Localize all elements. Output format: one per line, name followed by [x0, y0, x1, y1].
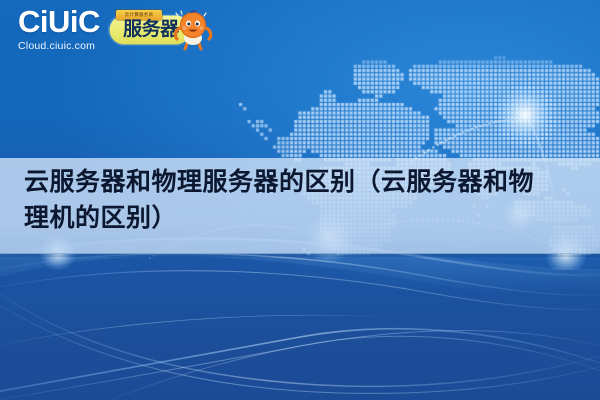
server-badge: 云计算服务商 服务器 — [108, 8, 216, 52]
page-title-line1: 云服务器和物理服务器的区别（云服务器和物 — [24, 168, 534, 196]
brand-lockup[interactable]: CiUiC Cloud.ciuic.com 云计算服务商 服务器 — [18, 6, 216, 52]
cover-image: 云服务器和物理服务器的区别（云服务器和物理机的区别） CiUiC Cloud.c… — [0, 0, 600, 400]
orange-mascot-icon — [170, 8, 216, 52]
page-title: 云服务器和物理服务器的区别（云服务器和物理机的区别） — [24, 164, 580, 236]
page-title-line2: 理机的区别） — [24, 204, 177, 232]
band-top-edge — [0, 253, 600, 257]
brand-domain: Cloud.ciuic.com — [18, 41, 95, 52]
brand-mark: CiUiC Cloud.ciuic.com — [18, 6, 100, 52]
brand-name: CiUiC — [18, 6, 100, 37]
